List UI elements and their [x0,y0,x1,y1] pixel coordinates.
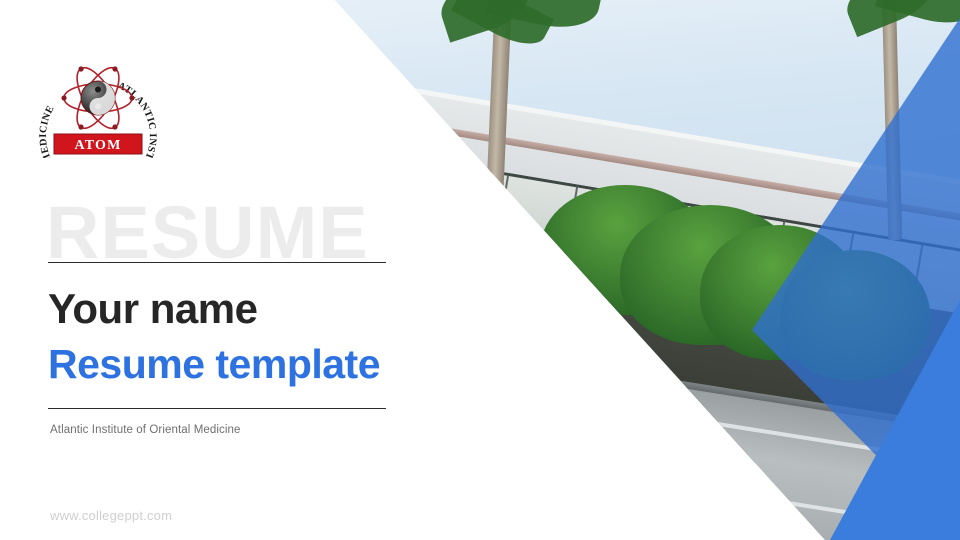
atom-logo: ATLANTIC INSTITUTE OF ORIENTAL MEDICINE [30,40,166,158]
slide-subtitle: Resume template [48,343,380,386]
divider-bottom [48,408,386,409]
organization-name: Atlantic Institute of Oriental Medicine [50,424,241,436]
person-name: Your name [48,287,257,331]
watermark-resume: RESUME [46,196,369,270]
svg-text:ATOM: ATOM [74,138,121,153]
divider-top [48,262,386,263]
resume-title-slide: Atlantic Institute of Oriental Medicine [0,0,960,540]
website-footer: www.collegeppt.com [50,508,172,523]
